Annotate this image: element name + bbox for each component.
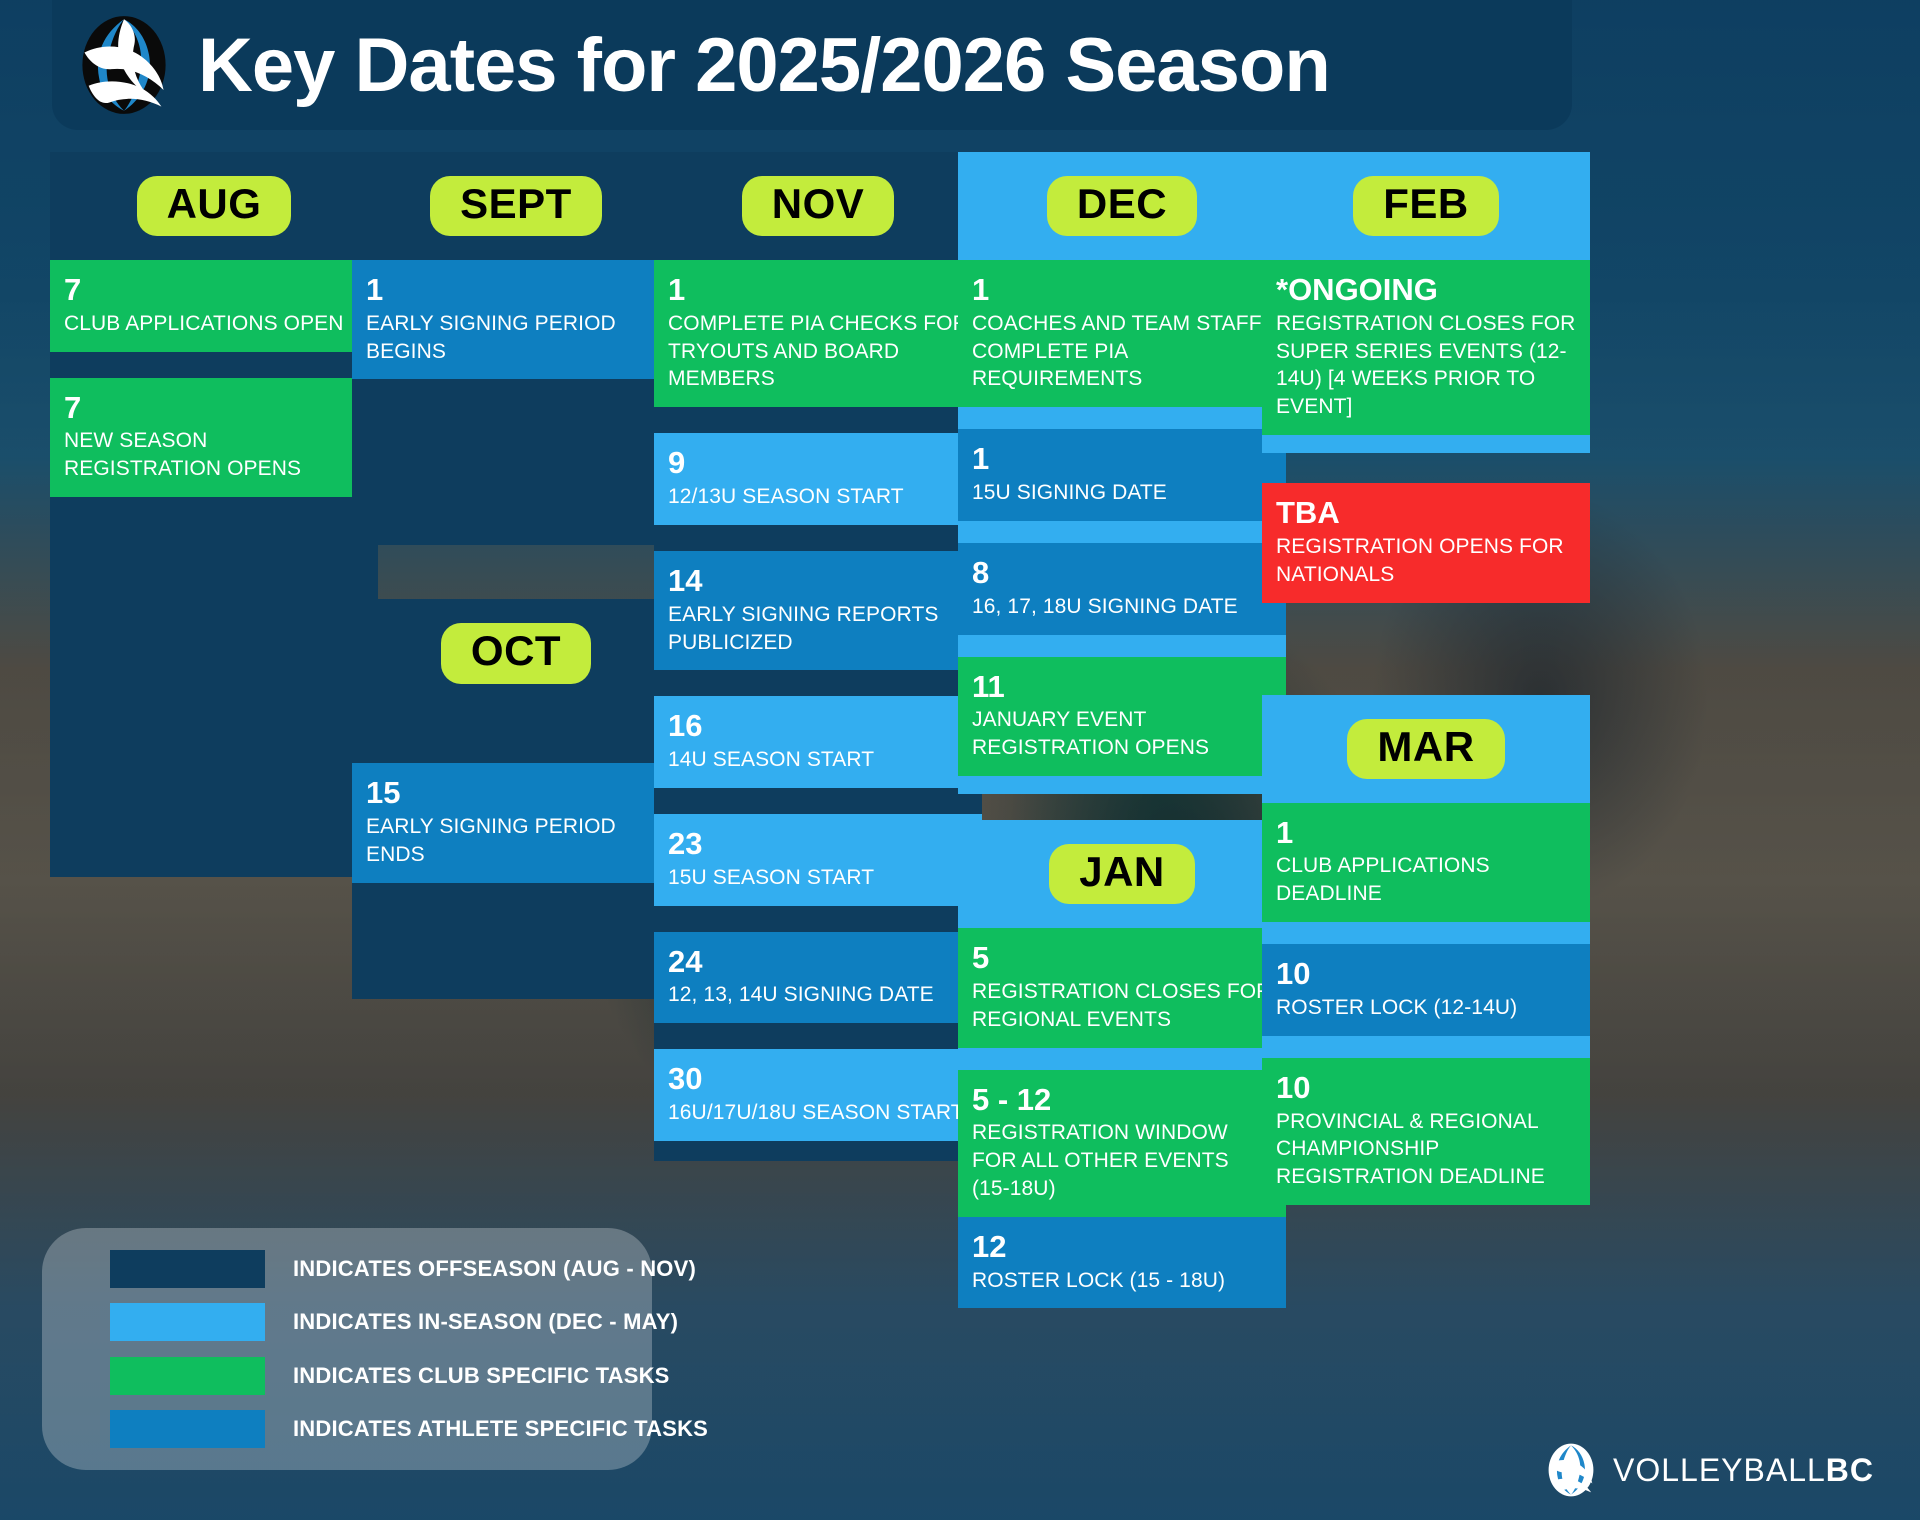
date-entry[interactable]: 7 NEW SEASON REGISTRATION OPENS — [50, 378, 378, 497]
entry-day: 12 — [972, 1229, 1272, 1265]
legend: INDICATES OFFSEASON (AUG - NOV) INDICATE… — [42, 1228, 652, 1470]
entry-description: REGISTRATION CLOSES FOR REGIONAL EVENTS — [972, 978, 1272, 1034]
month-pill-mar: MAR — [1347, 719, 1504, 779]
month-pill-feb: FEB — [1353, 176, 1499, 236]
month-panel-mar: MAR 1 CLUB APPLICATIONS DEADLINE 10 ROST… — [1262, 695, 1590, 1205]
date-entry[interactable]: 10 ROSTER LOCK (12-14U) — [1262, 944, 1590, 1036]
date-entry[interactable]: 11 JANUARY EVENT REGISTRATION OPENS — [958, 657, 1286, 776]
legend-item: INDICATES IN-SEASON (DEC - MAY) — [110, 1303, 652, 1341]
month-panel-feb: FEB *ONGOING REGISTRATION CLOSES FOR SUP… — [1262, 152, 1590, 453]
date-entry[interactable]: 10 PROVINCIAL & REGIONAL CHAMPIONSHIP RE… — [1262, 1058, 1590, 1205]
month-panel-sept: SEPT 1 EARLY SIGNING PERIOD BEGINS — [352, 152, 680, 545]
entry-description: NEW SEASON REGISTRATION OPENS — [64, 427, 364, 483]
date-entry-alert[interactable]: TBA REGISTRATION OPENS FOR NATIONALS — [1262, 483, 1590, 602]
month-header-dec: DEC — [958, 152, 1286, 260]
month-panel-nov: NOV 1 COMPLETE PIA CHECKS FOR TRYOUTS AN… — [654, 152, 982, 1161]
entry-description: 14U SEASON START — [668, 746, 968, 774]
month-header-mar: MAR — [1262, 695, 1590, 803]
date-entry[interactable]: *ONGOING REGISTRATION CLOSES FOR SUPER S… — [1262, 260, 1590, 435]
entry-description: JANUARY EVENT REGISTRATION OPENS — [972, 706, 1272, 762]
entry-day: 8 — [972, 555, 1272, 591]
entry-day: 14 — [668, 563, 968, 599]
volleyball-logo-icon — [72, 13, 176, 117]
spacer — [654, 1023, 982, 1049]
entry-day: 1 — [1276, 815, 1576, 851]
entry-day: 7 — [64, 272, 364, 308]
entry-description: 15U SIGNING DATE — [972, 479, 1272, 507]
date-entry[interactable]: 1 15U SIGNING DATE — [958, 429, 1286, 521]
entry-description: EARLY SIGNING REPORTS PUBLICIZED — [668, 601, 968, 657]
entry-day: 24 — [668, 944, 968, 980]
entry-description: 16U/17U/18U SEASON START — [668, 1099, 968, 1127]
month-pill-aug: AUG — [137, 176, 292, 236]
date-entry[interactable]: 16 14U SEASON START — [654, 696, 982, 788]
legend-label: INDICATES ATHLETE SPECIFIC TASKS — [293, 1416, 708, 1442]
page-title: Key Dates for 2025/2026 Season — [198, 22, 1330, 109]
date-entry[interactable]: 15 EARLY SIGNING PERIOD ENDS — [352, 763, 680, 882]
spacer — [958, 1048, 1286, 1070]
month-column-nov: NOV 1 COMPLETE PIA CHECKS FOR TRYOUTS AN… — [654, 152, 982, 1161]
date-entry[interactable]: 24 12, 13, 14U SIGNING DATE — [654, 932, 982, 1024]
brand-footer: VOLLEYBALLBC — [1543, 1442, 1874, 1498]
date-entry[interactable]: 14 EARLY SIGNING REPORTS PUBLICIZED — [654, 551, 982, 670]
date-entry[interactable]: 1 COACHES AND TEAM STAFF COMPLETE PIA RE… — [958, 260, 1286, 407]
date-entry[interactable]: 23 15U SEASON START — [654, 814, 982, 906]
entry-day: *ONGOING — [1276, 272, 1576, 308]
entry-description: REGISTRATION OPENS FOR NATIONALS — [1276, 533, 1576, 589]
panel-tail — [352, 883, 680, 999]
entry-day: 16 — [668, 708, 968, 744]
volleyball-logo-icon — [1543, 1442, 1599, 1498]
brand-name: VOLLEYBALLBC — [1613, 1452, 1874, 1489]
month-header-oct: OCT — [352, 599, 680, 707]
legend-label: INDICATES IN-SEASON (DEC - MAY) — [293, 1309, 678, 1335]
month-header-jan: JAN — [958, 820, 1286, 928]
entry-day: 15 — [366, 775, 666, 811]
month-column-feb-mar: FEB *ONGOING REGISTRATION CLOSES FOR SUP… — [1262, 152, 1590, 1205]
spacer — [958, 407, 1286, 429]
entry-day: 23 — [668, 826, 968, 862]
entry-day: 30 — [668, 1061, 968, 1097]
entry-day: 7 — [64, 390, 364, 426]
month-header-aug: AUG — [50, 152, 378, 260]
entry-day: 11 — [972, 669, 1272, 705]
month-header-sept: SEPT — [352, 152, 680, 260]
entry-description: ROSTER LOCK (12-14U) — [1276, 994, 1576, 1022]
legend-swatch-inseason — [110, 1303, 265, 1341]
entry-day: 5 - 12 — [972, 1082, 1272, 1118]
panel-tail — [654, 1141, 982, 1161]
date-entry[interactable]: 5 REGISTRATION CLOSES FOR REGIONAL EVENT… — [958, 928, 1286, 1047]
page-header: Key Dates for 2025/2026 Season — [52, 0, 1572, 130]
month-pill-oct: OCT — [441, 623, 591, 683]
entry-day: 1 — [366, 272, 666, 308]
month-panel-dec: DEC 1 COACHES AND TEAM STAFF COMPLETE PI… — [958, 152, 1286, 794]
legend-item: INDICATES CLUB SPECIFIC TASKS — [110, 1357, 652, 1395]
month-pill-jan: JAN — [1049, 844, 1195, 904]
month-panel-aug: AUG 7 CLUB APPLICATIONS OPEN 7 NEW SEASO… — [50, 152, 378, 877]
legend-item: INDICATES OFFSEASON (AUG - NOV) — [110, 1250, 652, 1288]
panel-tail — [50, 497, 378, 877]
entry-description: 12/13U SEASON START — [668, 483, 968, 511]
spacer — [1262, 1036, 1590, 1058]
panel-tail — [1262, 435, 1590, 453]
entry-day: 10 — [1276, 1070, 1576, 1106]
month-pill-dec: DEC — [1047, 176, 1197, 236]
entry-description: CLUB APPLICATIONS DEADLINE — [1276, 852, 1576, 908]
legend-swatch-club — [110, 1357, 265, 1395]
spacer — [654, 906, 982, 932]
date-entry[interactable]: 1 COMPLETE PIA CHECKS FOR TRYOUTS AND BO… — [654, 260, 982, 407]
date-entry[interactable]: 1 CLUB APPLICATIONS DEADLINE — [1262, 803, 1590, 922]
month-header-feb: FEB — [1262, 152, 1590, 260]
date-entry[interactable]: 1 EARLY SIGNING PERIOD BEGINS — [352, 260, 680, 379]
entry-day: 9 — [668, 445, 968, 481]
date-entry[interactable]: 8 16, 17, 18U SIGNING DATE — [958, 543, 1286, 635]
panel-gap — [1262, 453, 1590, 483]
panel-gap — [1262, 603, 1590, 695]
month-panel-jan: JAN 5 REGISTRATION CLOSES FOR REGIONAL E… — [958, 820, 1286, 1308]
brand-name-bold: BC — [1826, 1452, 1874, 1488]
legend-item: INDICATES ATHLETE SPECIFIC TASKS — [110, 1410, 652, 1448]
legend-label: INDICATES CLUB SPECIFIC TASKS — [293, 1363, 670, 1389]
brand-name-light: VOLLEYBALL — [1613, 1452, 1826, 1488]
entry-day: 1 — [972, 441, 1272, 477]
month-pill-nov: NOV — [742, 176, 895, 236]
entry-day: 5 — [972, 940, 1272, 976]
entry-description: EARLY SIGNING PERIOD ENDS — [366, 813, 666, 869]
panel-tail — [958, 776, 1286, 794]
entry-day: 1 — [972, 272, 1272, 308]
entry-description: PROVINCIAL & REGIONAL CHAMPIONSHIP REGIS… — [1276, 1108, 1576, 1192]
entry-description: ROSTER LOCK (15 - 18U) — [972, 1267, 1272, 1295]
entry-description: CLUB APPLICATIONS OPEN — [64, 310, 364, 338]
month-pill-sept: SEPT — [430, 176, 602, 236]
spacer — [1262, 922, 1590, 944]
spacer — [958, 521, 1286, 543]
spacer — [654, 407, 982, 433]
spacer — [654, 788, 982, 814]
entry-description: 12, 13, 14U SIGNING DATE — [668, 981, 968, 1009]
entry-day: 10 — [1276, 956, 1576, 992]
spacer — [958, 635, 1286, 657]
entry-description: COMPLETE PIA CHECKS FOR TRYOUTS AND BOAR… — [668, 310, 968, 394]
date-entry[interactable]: 9 12/13U SEASON START — [654, 433, 982, 525]
spacer — [352, 707, 680, 763]
legend-swatch-offseason — [110, 1250, 265, 1288]
spacer — [654, 525, 982, 551]
entry-day: TBA — [1276, 495, 1576, 531]
entry-description: 16, 17, 18U SIGNING DATE — [972, 593, 1272, 621]
legend-label: INDICATES OFFSEASON (AUG - NOV) — [293, 1256, 696, 1282]
month-column-dec-jan: DEC 1 COACHES AND TEAM STAFF COMPLETE PI… — [958, 152, 1286, 1308]
spacer — [50, 352, 378, 378]
legend-swatch-athlete — [110, 1410, 265, 1448]
entry-description: REGISTRATION WINDOW FOR ALL OTHER EVENTS… — [972, 1119, 1272, 1203]
entry-description: COACHES AND TEAM STAFF COMPLETE PIA REQU… — [972, 310, 1272, 394]
date-entry[interactable]: 5 - 12 REGISTRATION WINDOW FOR ALL OTHER… — [958, 1070, 1286, 1217]
panel-tail — [352, 379, 680, 545]
month-header-nov: NOV — [654, 152, 982, 260]
date-entry[interactable]: 12 ROSTER LOCK (15 - 18U) — [958, 1217, 1286, 1309]
date-entry[interactable]: 30 16U/17U/18U SEASON START — [654, 1049, 982, 1141]
spacer — [654, 670, 982, 696]
entry-description: REGISTRATION CLOSES FOR SUPER SERIES EVE… — [1276, 310, 1576, 422]
month-column-sept-oct: SEPT 1 EARLY SIGNING PERIOD BEGINS OCT 1… — [352, 152, 680, 999]
entry-day: 1 — [668, 272, 968, 308]
month-column-aug: AUG 7 CLUB APPLICATIONS OPEN 7 NEW SEASO… — [50, 152, 378, 877]
entry-description: 15U SEASON START — [668, 864, 968, 892]
entry-description: EARLY SIGNING PERIOD BEGINS — [366, 310, 666, 366]
panel-gap — [352, 545, 680, 599]
date-entry[interactable]: 7 CLUB APPLICATIONS OPEN — [50, 260, 378, 352]
month-panel-oct: OCT 15 EARLY SIGNING PERIOD ENDS — [352, 599, 680, 998]
panel-gap — [958, 794, 1286, 820]
